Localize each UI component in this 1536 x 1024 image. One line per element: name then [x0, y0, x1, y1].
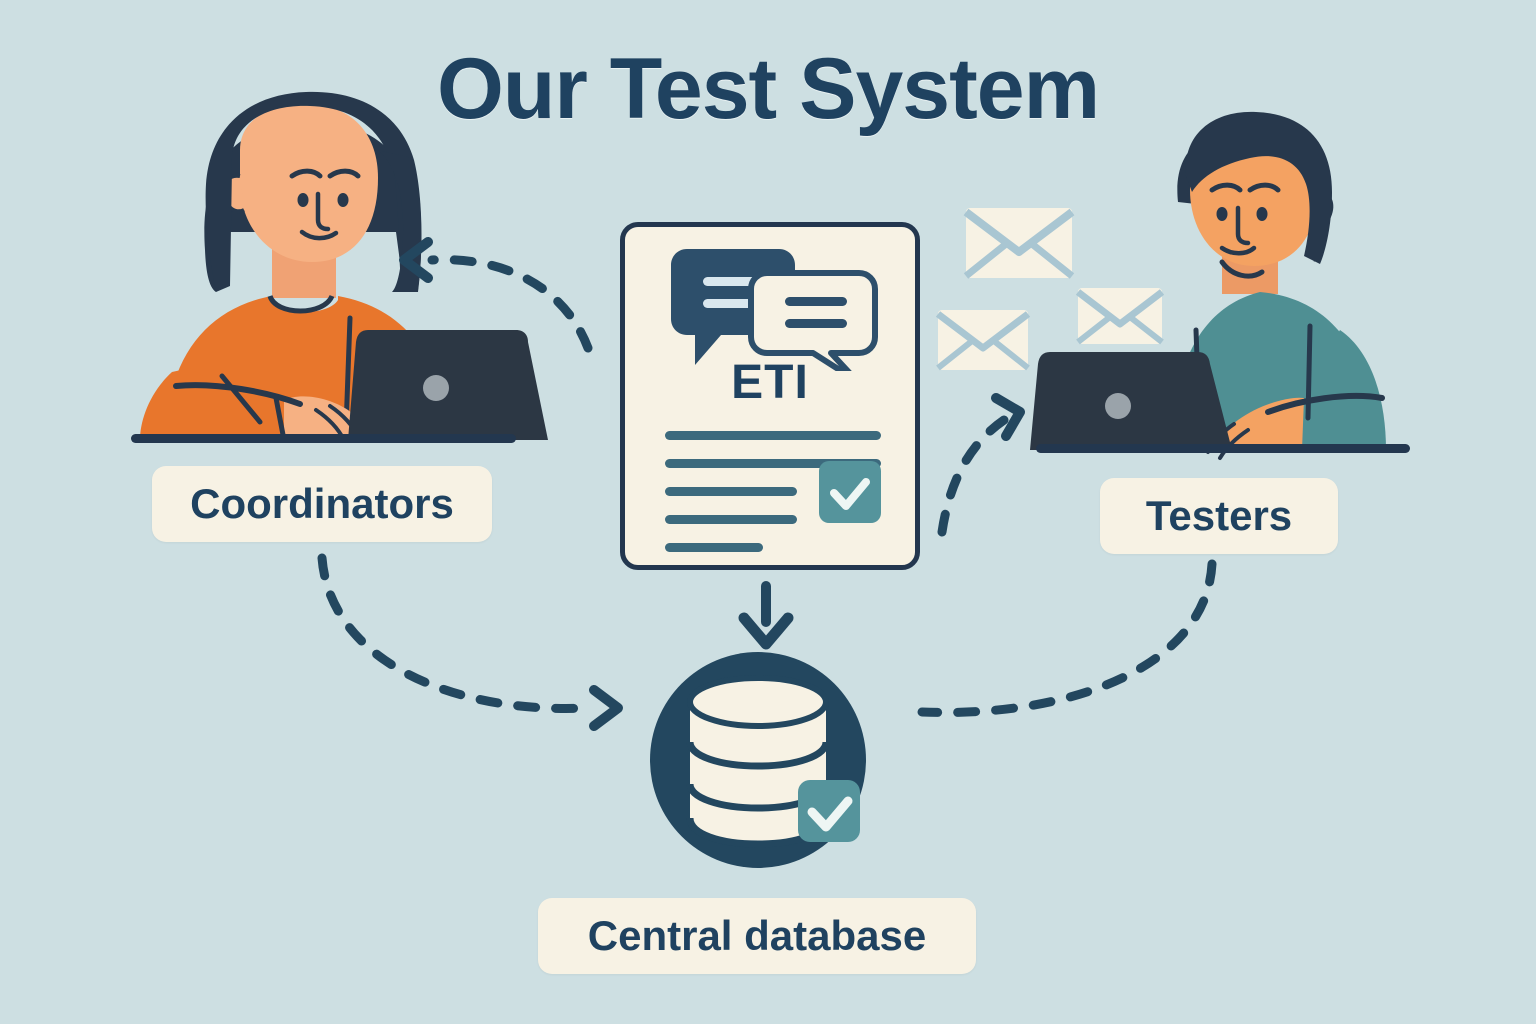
- document-check-icon: [819, 461, 881, 523]
- label-coordinators[interactable]: Coordinators: [152, 466, 492, 542]
- document-text-line: [665, 487, 797, 496]
- document-card[interactable]: ETI: [620, 222, 920, 570]
- central-database-node[interactable]: [650, 652, 866, 868]
- coordinator-figure: [131, 92, 548, 443]
- page-title: Our Test System: [0, 44, 1536, 134]
- label-testers[interactable]: Testers: [1100, 478, 1338, 554]
- document-text-line: [665, 515, 797, 524]
- envelope-icon-3: [1078, 288, 1162, 344]
- connection-card-to-testers: [942, 398, 1020, 532]
- connection-testers-to-database: [922, 564, 1212, 712]
- envelope-icon-2: [938, 310, 1028, 370]
- document-text-line: [665, 543, 763, 552]
- connection-card-to-coordinators: [404, 242, 588, 348]
- connection-card-to-database: [744, 586, 788, 644]
- label-central-database[interactable]: Central database: [538, 898, 976, 974]
- connection-coordinators-to-database: [322, 558, 618, 726]
- envelope-icon-1: [966, 208, 1072, 278]
- tester-figure: [1030, 112, 1410, 458]
- diagram-canvas: Our Test System: [0, 0, 1536, 1024]
- speech-bubbles-icon: [625, 241, 925, 371]
- document-heading: ETI: [625, 355, 915, 410]
- document-text-line: [665, 431, 881, 440]
